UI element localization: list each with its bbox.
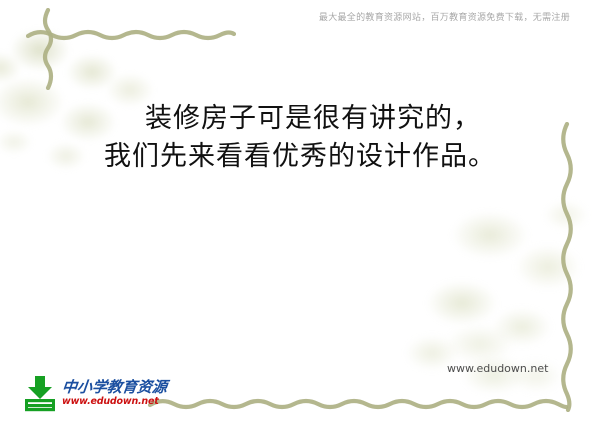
logo-url-text: www.edudown.net xyxy=(62,397,167,407)
logo-brand-name: 中小学教育资源 xyxy=(61,380,168,395)
slide-title: 装修房子可是很有讲究的， 我们先来看看优秀的设计作品。 xyxy=(0,100,600,176)
bamboo-top-horizontal-decoration xyxy=(26,28,236,42)
slide-title-line-1: 装修房子可是很有讲究的， xyxy=(0,100,600,138)
slide-title-line-2: 我们先来看看优秀的设计作品。 xyxy=(0,138,600,176)
logo-text-group: 中小学教育资源 www.edudown.net xyxy=(62,380,167,407)
presentation-slide: 最大最全的教育资源网站，百万教育资源免费下载，无需注册 装修房子可是很有讲究的，… xyxy=(0,0,600,424)
bamboo-bottom-horizontal-decoration xyxy=(148,396,568,412)
site-url-caption: www.edudown.net xyxy=(447,362,548,375)
site-logo[interactable]: 中小学教育资源 www.edudown.net xyxy=(22,374,167,412)
bamboo-left-vertical-decoration xyxy=(40,8,56,90)
download-arrow-icon xyxy=(22,374,58,412)
header-note-text: 最大最全的教育资源网站，百万教育资源免费下载，无需注册 xyxy=(319,10,570,23)
